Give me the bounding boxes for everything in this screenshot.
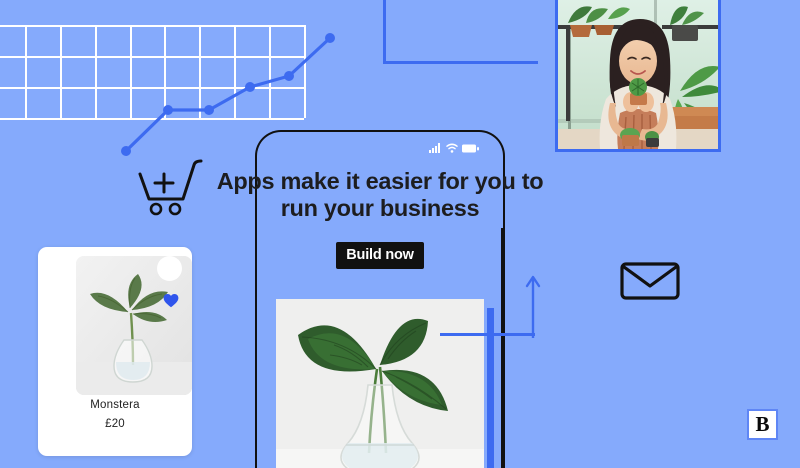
page-title: Apps make it easier for you to run your …	[200, 168, 560, 223]
circle-badge-icon	[157, 256, 182, 281]
product-card[interactable]: Monstera £20	[38, 247, 192, 456]
product-price: £20	[38, 418, 192, 430]
chart-data-point	[245, 82, 255, 92]
chart-data-point	[121, 146, 131, 156]
brand-letter: B	[755, 414, 769, 435]
photo-woman-with-cactus	[555, 0, 721, 152]
rect-left-edge	[383, 0, 386, 64]
chart-data-point	[284, 71, 294, 81]
chart-data-point	[163, 105, 173, 115]
arrow-up-icon	[515, 270, 555, 340]
rect-bottom-edge	[383, 61, 538, 64]
chart-data-point	[204, 105, 214, 115]
decorative-vertical-line-dark	[501, 228, 504, 468]
product-title: Monstera	[38, 399, 192, 411]
brand-logo[interactable]: B	[747, 409, 778, 440]
heart-icon[interactable]	[163, 293, 179, 308]
hero-canvas: Apps make it easier for you to run your …	[0, 0, 800, 468]
cellular-signal-icon	[429, 143, 442, 153]
envelope-icon[interactable]	[620, 262, 680, 300]
phone-status-bar	[255, 143, 505, 157]
build-now-button[interactable]: Build now	[336, 242, 424, 269]
battery-icon	[462, 144, 479, 153]
add-to-cart-icon[interactable]	[137, 158, 209, 216]
photo-monstera-in-vase	[276, 299, 484, 468]
wifi-icon	[446, 143, 458, 153]
headline-line-1: Apps make it easier for you to	[200, 168, 560, 195]
decorative-vertical-bar-blue	[487, 308, 494, 468]
chart-data-point	[325, 33, 335, 43]
decorative-open-rectangle	[383, 0, 538, 64]
headline-line-2: run your business	[200, 195, 560, 222]
